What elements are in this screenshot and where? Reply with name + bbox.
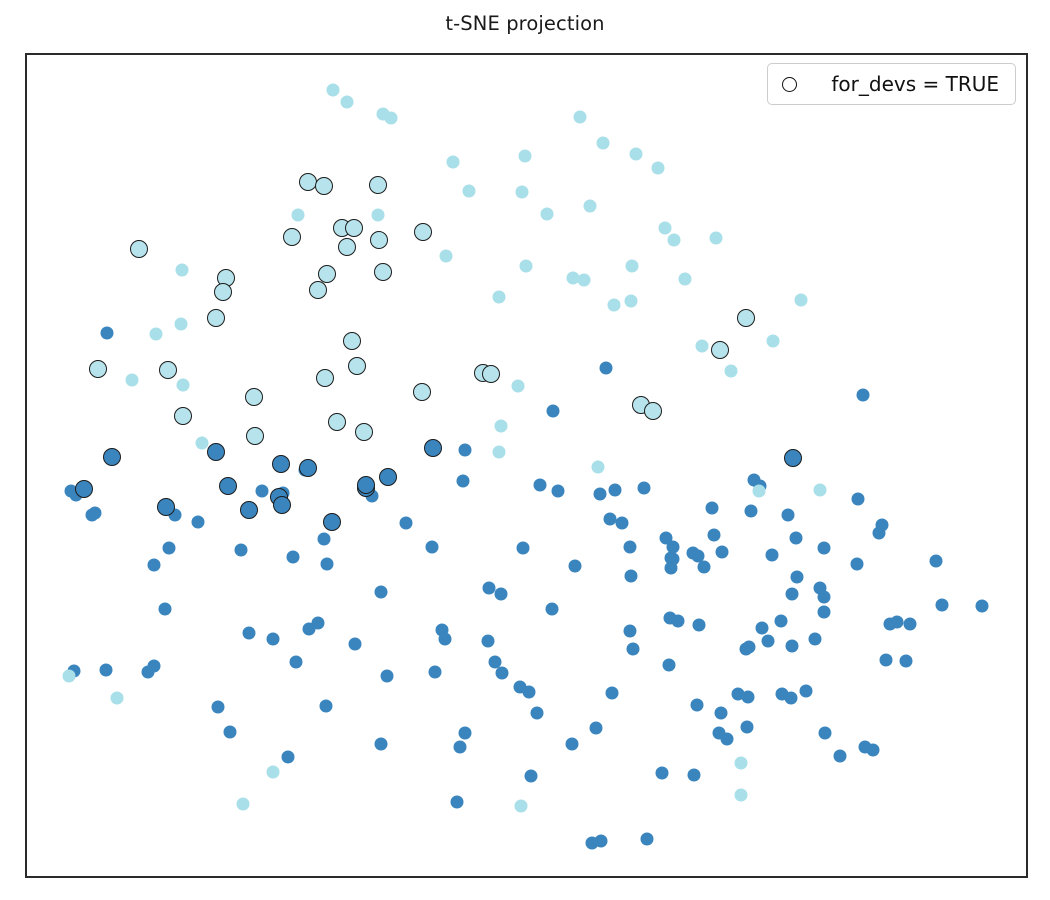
scatter-point <box>809 633 822 646</box>
scatter-point <box>516 186 529 199</box>
scatter-point-highlighted <box>240 501 258 519</box>
scatter-point-highlighted <box>159 361 177 379</box>
scatter-point <box>372 209 385 222</box>
scatter-point <box>303 623 316 636</box>
scatter-point-highlighted <box>369 176 387 194</box>
scatter-point <box>659 222 672 235</box>
scatter-point <box>766 549 779 562</box>
scatter-point-highlighted <box>299 173 317 191</box>
scatter-point <box>590 722 603 735</box>
scatter-point <box>196 437 209 450</box>
scatter-point <box>652 162 665 175</box>
scatter-point <box>320 700 333 713</box>
scatter-point <box>546 603 559 616</box>
scatter-point <box>776 688 789 701</box>
scatter-point-highlighted <box>245 388 263 406</box>
scatter-point <box>495 420 508 433</box>
scatter-point <box>290 656 303 669</box>
scatter-point <box>375 586 388 599</box>
scatter-point <box>519 150 532 163</box>
scatter-point <box>287 551 300 564</box>
scatter-point <box>721 733 734 746</box>
scatter-point <box>235 544 248 557</box>
scatter-point <box>786 640 799 653</box>
scatter-point <box>782 509 795 522</box>
scatter-point <box>321 558 334 571</box>
scatter-point <box>608 299 621 312</box>
scatter-point <box>708 529 721 542</box>
scatter-point <box>857 389 870 402</box>
scatter-point <box>493 291 506 304</box>
scatter-point <box>327 84 340 97</box>
scatter-point <box>688 769 701 782</box>
scatter-point <box>552 485 565 498</box>
scatter-point-highlighted <box>309 281 327 299</box>
scatter-point <box>656 767 669 780</box>
scatter-point-highlighted <box>316 369 334 387</box>
scatter-point <box>341 96 354 109</box>
scatter-point <box>775 615 788 628</box>
scatter-point <box>818 542 831 555</box>
scatter-point-highlighted <box>355 423 373 441</box>
scatter-point-highlighted <box>413 383 431 401</box>
scatter-point <box>790 532 803 545</box>
scatter-point-highlighted <box>328 413 346 431</box>
scatter-point-highlighted <box>414 223 432 241</box>
tsne-scatter-figure: t-SNE projection for_devs = TRUE <box>0 0 1050 900</box>
scatter-point <box>819 727 832 740</box>
scatter-point <box>625 570 638 583</box>
scatter-point <box>743 641 756 654</box>
scatter-point <box>101 327 114 340</box>
scatter-point <box>725 365 738 378</box>
scatter-point-highlighted <box>482 365 500 383</box>
scatter-point <box>256 485 269 498</box>
scatter-point <box>566 738 579 751</box>
scatter-point-highlighted <box>711 341 729 359</box>
scatter-point-highlighted <box>343 332 361 350</box>
scatter-point <box>594 488 607 501</box>
scatter-point <box>592 461 605 474</box>
scatter-point <box>753 485 766 498</box>
scatter-point-highlighted <box>357 476 375 494</box>
scatter-point <box>767 335 780 348</box>
scatter-point <box>100 664 113 677</box>
scatter-point <box>292 209 305 222</box>
scatter-point <box>192 516 205 529</box>
scatter-point <box>267 766 280 779</box>
scatter-point <box>454 741 467 754</box>
scatter-point-highlighted <box>379 468 397 486</box>
scatter-point <box>627 643 640 656</box>
scatter-point <box>86 509 99 522</box>
scatter-point <box>447 156 460 169</box>
scatter-point <box>800 685 813 698</box>
scatter-point <box>150 328 163 341</box>
scatter-point <box>282 751 295 764</box>
scatter-point-highlighted <box>219 477 237 495</box>
scatter-point <box>267 633 280 646</box>
scatter-point <box>111 692 124 705</box>
scatter-point <box>693 619 706 632</box>
scatter-point <box>904 618 917 631</box>
scatter-point <box>834 750 847 763</box>
scatter-point <box>791 571 804 584</box>
scatter-point-highlighted <box>374 263 392 281</box>
scatter-point <box>696 340 709 353</box>
scatter-point <box>814 582 827 595</box>
scatter-point <box>176 264 189 277</box>
scatter-point <box>626 260 639 273</box>
scatter-point <box>534 479 547 492</box>
scatter-point <box>514 681 527 694</box>
scatter-point <box>641 833 654 846</box>
scatter-point-highlighted <box>345 219 363 237</box>
scatter-point <box>638 482 651 495</box>
scatter-point <box>375 738 388 751</box>
scatter-point <box>597 137 610 150</box>
scatter-point <box>525 770 538 783</box>
scatter-point <box>515 800 528 813</box>
scatter-point <box>625 295 638 308</box>
scatter-point <box>691 699 704 712</box>
scatter-point-highlighted <box>283 228 301 246</box>
scatter-point-highlighted <box>130 240 148 258</box>
scatter-point <box>495 588 508 601</box>
scatter-point <box>496 667 509 680</box>
scatter-point <box>762 635 775 648</box>
scatter-point <box>606 687 619 700</box>
scatter-point-highlighted <box>299 459 317 477</box>
scatter-point-highlighted <box>348 357 366 375</box>
scatter-point <box>512 380 525 393</box>
scatter-point <box>584 200 597 213</box>
scatter-point <box>786 588 799 601</box>
scatter-point <box>237 798 250 811</box>
scatter-point <box>349 638 362 651</box>
scatter-point-highlighted <box>174 407 192 425</box>
scatter-point <box>541 208 554 221</box>
scatter-point-highlighted <box>75 480 93 498</box>
scatter-point <box>482 635 495 648</box>
scatter-point <box>126 374 139 387</box>
scatter-point-highlighted <box>784 449 802 467</box>
scatter-point <box>381 670 394 683</box>
scatter-point <box>624 625 637 638</box>
scatter-point <box>586 837 599 850</box>
scatter-point-highlighted <box>272 455 290 473</box>
scatter-point <box>489 656 502 669</box>
scatter-point <box>710 232 723 245</box>
scatter-point <box>578 274 591 287</box>
scatter-point <box>936 599 949 612</box>
scatter-point <box>177 379 190 392</box>
scatter-point <box>517 542 530 555</box>
open-circle-marker-icon <box>782 77 797 92</box>
scatter-point-highlighted <box>214 283 232 301</box>
scatter-point <box>687 547 700 560</box>
scatter-point <box>930 555 943 568</box>
scatter-point-highlighted <box>370 231 388 249</box>
scatter-point <box>735 757 748 770</box>
page-title: t-SNE projection <box>0 12 1050 36</box>
scatter-point <box>663 659 676 672</box>
scatter-point <box>63 670 76 683</box>
legend-box[interactable]: for_devs = TRUE <box>767 63 1016 105</box>
scatter-point <box>624 541 637 554</box>
scatter-point <box>440 250 453 263</box>
scatter-point <box>493 446 506 459</box>
scatter-point <box>880 654 893 667</box>
scatter-point <box>715 707 728 720</box>
scatter-point <box>668 234 681 247</box>
scatter-point <box>756 622 769 635</box>
scatter-point-highlighted <box>89 360 107 378</box>
scatter-point <box>867 744 880 757</box>
scatter-points-layer <box>27 55 1026 876</box>
scatter-point <box>851 558 864 571</box>
scatter-point-highlighted <box>157 498 175 516</box>
scatter-point <box>716 546 729 559</box>
plot-area: for_devs = TRUE <box>25 53 1028 878</box>
scatter-point-highlighted <box>318 265 336 283</box>
scatter-point <box>457 475 470 488</box>
scatter-point <box>459 727 472 740</box>
scatter-point <box>741 721 754 734</box>
scatter-point <box>318 533 331 546</box>
scatter-point <box>735 789 748 802</box>
scatter-point <box>900 655 913 668</box>
scatter-point <box>698 561 711 574</box>
scatter-point <box>665 562 678 575</box>
scatter-point <box>159 603 172 616</box>
scatter-point <box>630 148 643 161</box>
scatter-point <box>814 484 827 497</box>
scatter-point-highlighted <box>424 439 442 457</box>
scatter-point <box>667 541 680 554</box>
scatter-point <box>795 294 808 307</box>
scatter-point <box>463 185 476 198</box>
scatter-point <box>436 624 449 637</box>
scatter-point <box>459 444 472 457</box>
scatter-point-highlighted <box>103 448 121 466</box>
scatter-point <box>574 111 587 124</box>
scatter-point <box>429 666 442 679</box>
scatter-point-highlighted <box>207 309 225 327</box>
scatter-point <box>142 666 155 679</box>
scatter-point-highlighted <box>273 496 291 514</box>
scatter-point <box>400 517 413 530</box>
scatter-point-highlighted <box>207 443 225 461</box>
legend-entry-label: for_devs = TRUE <box>831 72 999 96</box>
scatter-point-highlighted <box>323 513 341 531</box>
scatter-point <box>212 701 225 714</box>
scatter-point <box>243 627 256 640</box>
scatter-point <box>679 273 692 286</box>
scatter-point <box>547 405 560 418</box>
scatter-point <box>609 484 622 497</box>
scatter-point <box>163 542 176 555</box>
scatter-point <box>531 707 544 720</box>
scatter-point <box>742 691 755 704</box>
scatter-point <box>852 493 865 506</box>
scatter-point <box>818 606 831 619</box>
scatter-point-highlighted <box>315 177 333 195</box>
scatter-point <box>569 560 582 573</box>
scatter-point-highlighted <box>737 309 755 327</box>
scatter-point <box>616 517 629 530</box>
scatter-point-highlighted <box>644 402 662 420</box>
scatter-point <box>385 112 398 125</box>
scatter-point <box>426 541 439 554</box>
scatter-point <box>976 600 989 613</box>
scatter-point <box>706 502 719 515</box>
scatter-point <box>175 318 188 331</box>
scatter-point <box>672 615 685 628</box>
scatter-point-highlighted <box>246 427 264 445</box>
scatter-point <box>224 726 237 739</box>
scatter-point <box>148 559 161 572</box>
scatter-point <box>884 618 897 631</box>
scatter-point-highlighted <box>338 238 356 256</box>
scatter-point <box>876 519 889 532</box>
scatter-point <box>451 796 464 809</box>
scatter-point <box>520 260 533 273</box>
scatter-point <box>600 362 613 375</box>
scatter-point <box>745 505 758 518</box>
